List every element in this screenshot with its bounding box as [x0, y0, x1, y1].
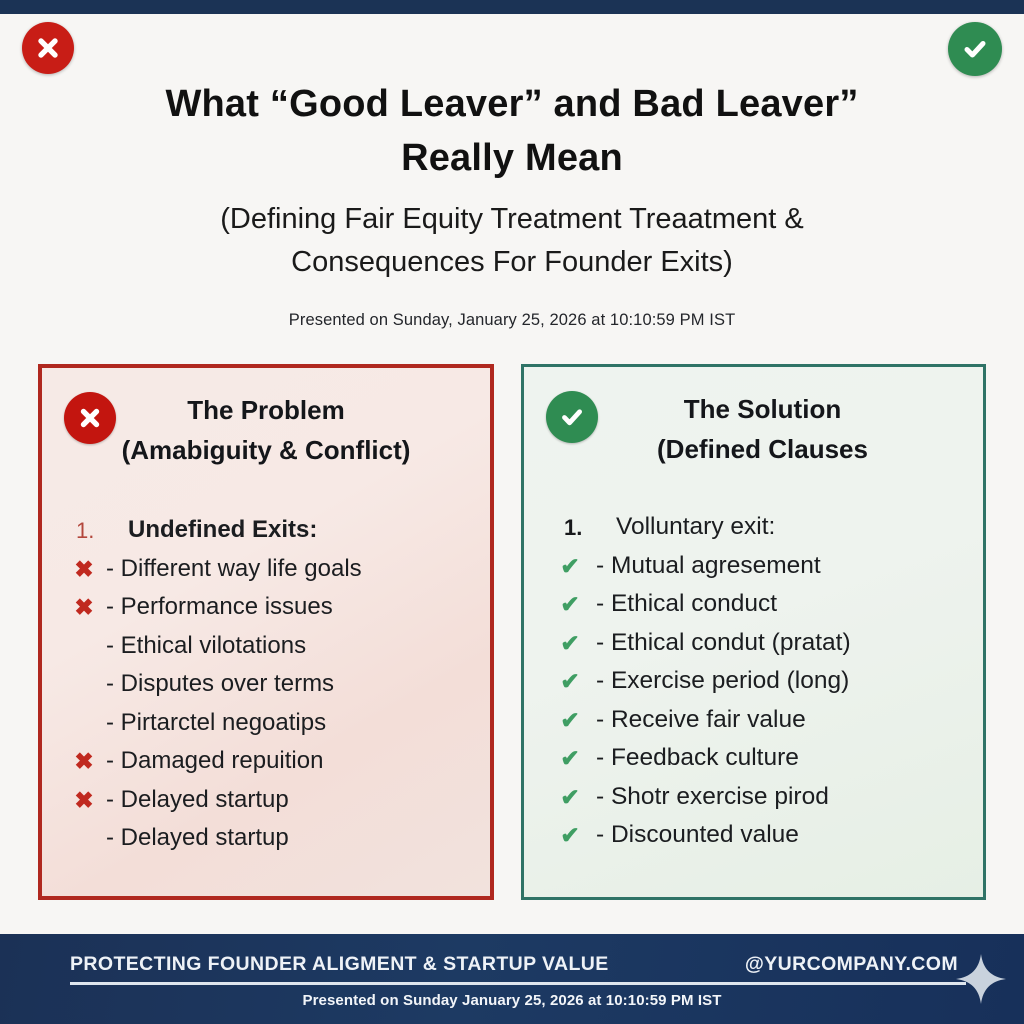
list-item-label: - Feedback culture: [596, 746, 799, 771]
list-item: ✔ - Feedback culture: [544, 746, 963, 785]
list-item: ✔ - Ethical condut (pratat): [544, 631, 963, 670]
footer-banner: PROTECTING FOUNDER ALIGMENT & STARTUP VA…: [0, 934, 1024, 1024]
check-mark-icon: ✔: [544, 786, 596, 809]
list-item: - Ethical vilotations: [62, 634, 470, 673]
solution-panel-header: The Solution (Defined Clauses: [544, 389, 963, 485]
circle-check-icon: [546, 391, 598, 443]
list-item-label: - Shotr exercise pirod: [596, 785, 829, 810]
presented-timestamp: Presented on Sunday, January 25, 2026 at…: [0, 311, 1024, 330]
header-block: What “Good Leaver” and Bad Leaver” Reall…: [0, 78, 1024, 330]
comparison-panels: The Problem (Amabiguity & Conflict) 1. U…: [0, 364, 1024, 900]
check-mark-icon: ✔: [544, 670, 596, 693]
list-item: ✖ - Performance issues: [62, 595, 470, 634]
x-mark-icon: ✖: [62, 789, 106, 812]
footer-tagline: PROTECTING FOUNDER ALIGMENT & STARTUP VA…: [70, 953, 609, 976]
check-mark-icon: ✔: [544, 709, 596, 732]
list-item: ✔ - Ethical conduct: [544, 592, 963, 631]
problem-panel-header: The Problem (Amabiguity & Conflict): [62, 390, 470, 486]
list-item-label: - Exercise period (long): [596, 669, 849, 694]
list-item-label: - Discounted value: [596, 823, 799, 848]
check-mark-icon: ✔: [544, 593, 596, 616]
circle-x-icon: [22, 22, 74, 74]
solution-panel-title: The Solution (Defined Clauses: [544, 389, 963, 470]
list-item-label: - Delayed startup: [106, 788, 289, 812]
list-item-label: - Different way life goals: [106, 557, 362, 581]
list-marker: 1.: [62, 520, 120, 542]
list-item: 1. Undefined Exits:: [62, 518, 470, 557]
list-item-label: - Pirtarctel negoatips: [106, 711, 326, 735]
solution-panel-title-line1: The Solution: [570, 389, 955, 429]
check-mark-icon: ✔: [544, 824, 596, 847]
check-mark-icon: ✔: [544, 747, 596, 770]
footer-divider: [70, 982, 966, 985]
page-subtitle: (Defining Fair Equity Treatment Treaatme…: [132, 198, 892, 285]
check-mark-icon: ✔: [544, 555, 596, 578]
x-mark-icon: ✖: [62, 750, 106, 773]
problem-panel-title-line2: (Amabiguity & Conflict): [70, 430, 462, 470]
list-item: - Delayed startup: [62, 826, 470, 865]
page-title: What “Good Leaver” and Bad Leaver” Reall…: [117, 78, 907, 186]
list-item: - Disputes over terms: [62, 672, 470, 711]
list-item-label: - Disputes over terms: [106, 672, 334, 696]
list-marker: 1.: [544, 517, 616, 539]
circle-x-icon: [64, 392, 116, 444]
list-item-label: - Ethical condut (pratat): [596, 631, 851, 656]
x-mark-icon: ✖: [62, 558, 106, 581]
list-item-label: - Performance issues: [106, 595, 333, 619]
list-item-label: Undefined Exits:: [120, 518, 317, 542]
list-item: ✔ - Exercise period (long): [544, 669, 963, 708]
problem-panel-title: The Problem (Amabiguity & Conflict): [62, 390, 470, 471]
solution-list: 1. Volluntary exit: ✔ - Mutual agresemen…: [544, 515, 963, 862]
solution-panel-title-line2: (Defined Clauses: [570, 429, 955, 469]
list-item-label: - Receive fair value: [596, 708, 806, 733]
list-item: ✖ - Damaged repuition: [62, 749, 470, 788]
list-item-label: - Damaged repuition: [106, 749, 323, 773]
footer-handle: @YURCOMPANY.COM: [745, 953, 958, 976]
footer-timestamp: Presented on Sunday January 25, 2026 at …: [0, 992, 1024, 1009]
footer-top-row: PROTECTING FOUNDER ALIGMENT & STARTUP VA…: [70, 953, 964, 976]
problem-list: 1. Undefined Exits: ✖ - Different way li…: [62, 518, 470, 865]
x-mark-icon: ✖: [62, 596, 106, 619]
top-accent-bar: [0, 0, 1024, 14]
list-item: ✔ - Mutual agresement: [544, 554, 963, 593]
list-item: ✔ - Discounted value: [544, 823, 963, 862]
list-item: ✔ - Receive fair value: [544, 708, 963, 747]
list-item: ✖ - Different way life goals: [62, 557, 470, 596]
list-item: ✖ - Delayed startup: [62, 788, 470, 827]
list-item-label: - Ethical vilotations: [106, 634, 306, 658]
list-item-label: - Mutual agresement: [596, 554, 821, 579]
list-item-label: - Ethical conduct: [596, 592, 777, 617]
slide-canvas: What “Good Leaver” and Bad Leaver” Reall…: [0, 0, 1024, 1024]
list-item: - Pirtarctel negoatips: [62, 711, 470, 750]
problem-panel: The Problem (Amabiguity & Conflict) 1. U…: [38, 364, 494, 900]
list-item-label: - Delayed startup: [106, 826, 289, 850]
list-item: 1. Volluntary exit:: [544, 515, 963, 554]
check-mark-icon: ✔: [544, 632, 596, 655]
problem-panel-title-line1: The Problem: [70, 390, 462, 430]
circle-check-icon: [948, 22, 1002, 76]
solution-panel: The Solution (Defined Clauses 1. Vollunt…: [521, 364, 986, 900]
list-item-label: Volluntary exit:: [616, 515, 775, 540]
list-item: ✔ - Shotr exercise pirod: [544, 785, 963, 824]
